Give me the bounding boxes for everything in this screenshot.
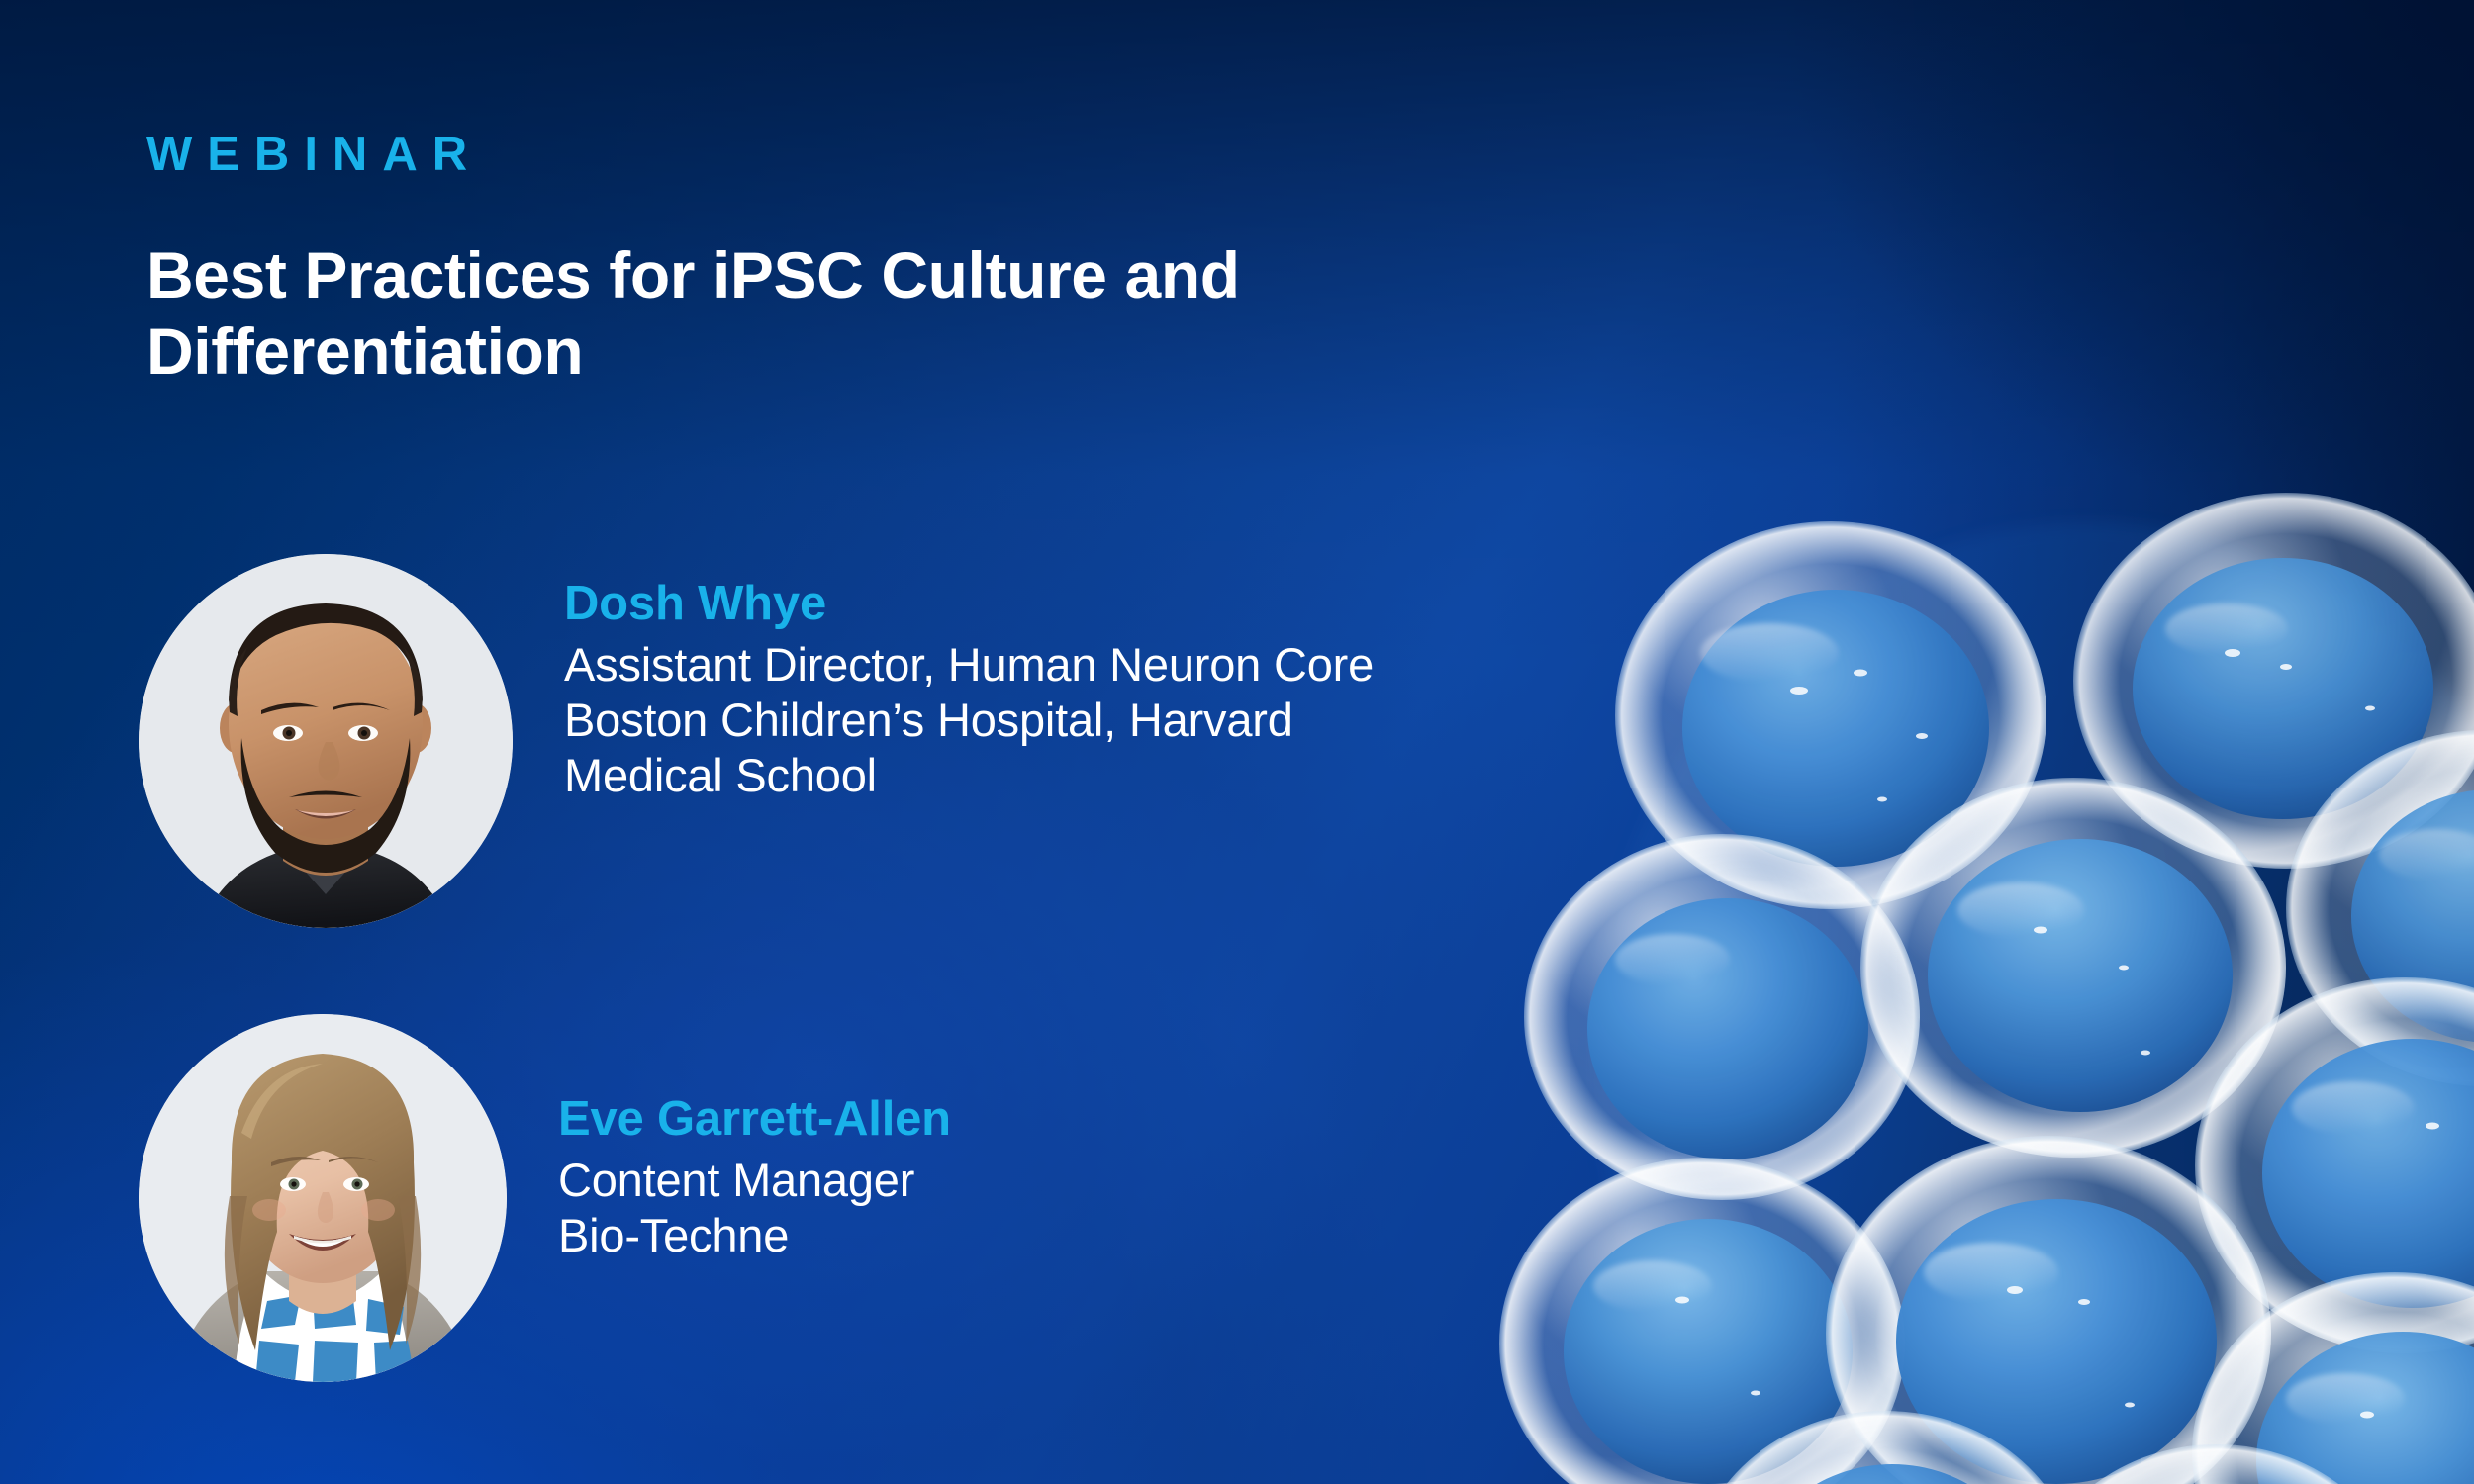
- webinar-slide: WEBINAR Best Practices for iPSC Culture …: [0, 0, 2474, 1484]
- page-title-line-1: Best Practices for iPSC Culture and: [146, 237, 1690, 314]
- eyebrow-label: WEBINAR: [146, 131, 482, 179]
- speaker-text-2: Eve Garrett-Allen Content Manager Bio-Te…: [558, 1014, 951, 1263]
- speaker-photo-eve-garrett-allen: [139, 1014, 507, 1382]
- speaker-photo-dosh-whye: [139, 554, 513, 928]
- speaker-affiliation-1: Boston Children’s Hospital, Harvard: [564, 693, 1374, 748]
- page-title: Best Practices for iPSC Culture and Diff…: [146, 237, 1690, 389]
- speaker-name-1: Dosh Whye: [564, 576, 1374, 633]
- speaker-block-1: Dosh Whye Assistant Director, Human Neur…: [139, 554, 1374, 928]
- speaker-affiliation-1b: Medical School: [564, 748, 1374, 803]
- speaker-affiliation-2: Bio-Techne: [558, 1208, 951, 1263]
- speaker-role-1: Assistant Director, Human Neuron Core: [564, 637, 1374, 693]
- speaker-text-1: Dosh Whye Assistant Director, Human Neur…: [564, 554, 1374, 803]
- content-column: WEBINAR Best Practices for iPSC Culture …: [146, 0, 1690, 1484]
- speaker-role-2: Content Manager: [558, 1153, 951, 1208]
- speaker-name-2: Eve Garrett-Allen: [558, 1091, 951, 1149]
- speaker-block-2: Eve Garrett-Allen Content Manager Bio-Te…: [139, 1014, 951, 1382]
- page-title-line-2: Differentiation: [146, 314, 1690, 390]
